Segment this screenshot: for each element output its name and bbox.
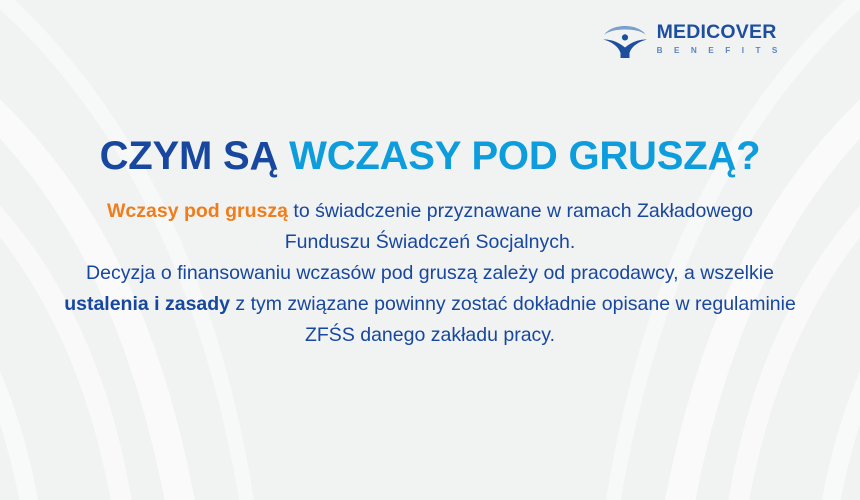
paragraph-2: Decyzja o finansowaniu wczasów pod grusz…: [64, 258, 796, 351]
paragraph-1-highlight: Wczasy pod gruszą: [107, 200, 288, 222]
logo-name: MEDICOVER: [657, 23, 782, 43]
medicover-benefits-logo: MEDICOVER B E N E F I T S: [602, 20, 782, 58]
paragraph-2-tail: z tym związane powinny zostać dokładnie …: [230, 293, 796, 346]
page-title-dark-part: CZYM SĄ: [100, 134, 279, 178]
slide-canvas: MEDICOVER B E N E F I T S CZYM SĄ WCZASY…: [0, 0, 860, 500]
paragraph-2-lead: Decyzja o finansowaniu wczasów pod grusz…: [86, 262, 774, 284]
paragraph-2-highlight: ustalenia i zasady: [64, 293, 230, 315]
page-title-light-part: WCZASY POD GRUSZĄ?: [289, 134, 760, 178]
body-copy: Wczasy pod gruszą to świadczenie przyzna…: [64, 196, 796, 351]
logo-wordmark: MEDICOVER B E N E F I T S: [657, 23, 782, 55]
medicover-eye-person-icon: [602, 20, 648, 58]
page-title: CZYM SĄ WCZASY POD GRUSZĄ?: [0, 133, 860, 179]
logo-subtitle: B E N E F I T S: [657, 47, 782, 55]
paragraph-1: Wczasy pod gruszą to świadczenie przyzna…: [64, 196, 796, 258]
paragraph-1-text: to świadczenie przyznawane w ramach Zakł…: [285, 200, 753, 253]
